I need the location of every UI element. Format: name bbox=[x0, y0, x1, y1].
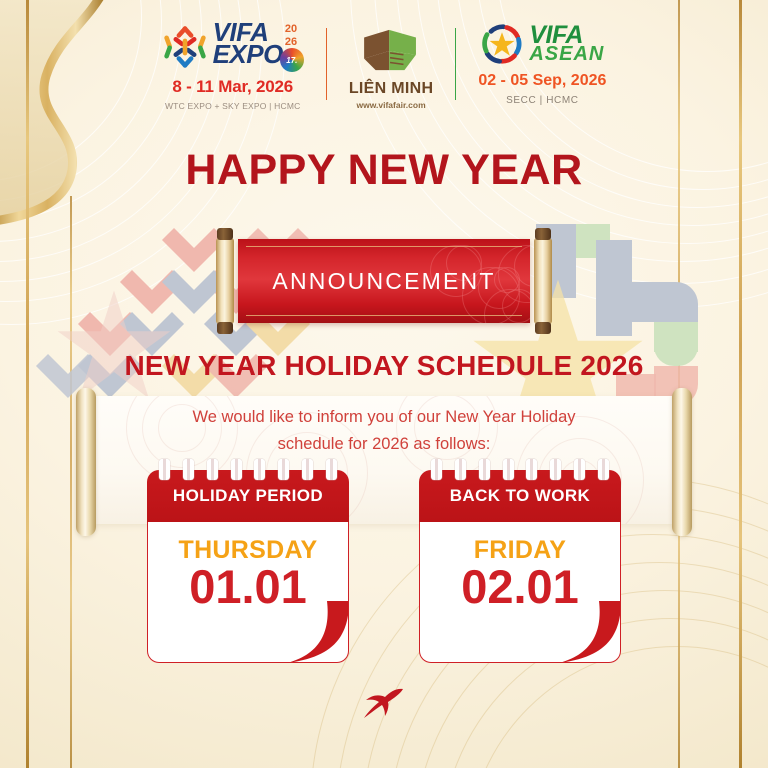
calendar-body: THURSDAY 01.01 bbox=[147, 522, 349, 663]
page-fold-corner-icon bbox=[559, 601, 621, 663]
vifa-expo-edition-badge: 17. bbox=[280, 48, 304, 72]
announcement-scroll: ANNOUNCEMENT bbox=[212, 228, 556, 334]
calendar-header-label: BACK TO WORK bbox=[450, 486, 590, 506]
vifa-expo-venue: WTC EXPO + SKY EXPO | HCMC bbox=[165, 101, 301, 111]
body-text-line-1: We would like to inform you of our New Y… bbox=[0, 404, 768, 431]
calendar-card-group: HOLIDAY PERIOD THURSDAY 01.01 BACK TO WO… bbox=[0, 470, 768, 663]
pale-star-decor-left bbox=[54, 288, 174, 408]
lien-minh-url: www.vifafair.com bbox=[357, 100, 426, 110]
furniture-box-icon bbox=[360, 26, 422, 74]
vifa-expo-wordmark: VIFA EXPO 20 26 17. bbox=[213, 22, 304, 72]
logo-vifa-expo[interactable]: VIFA EXPO 20 26 17. 8 - 11 Mar, 2026 WTC… bbox=[162, 22, 304, 111]
page-title: HAPPY NEW YEAR bbox=[0, 146, 768, 195]
vifa-asean-mark: VIFA ASEAN bbox=[480, 22, 604, 66]
new-year-announcement-poster: VIFA EXPO 20 26 17. 8 - 11 Mar, 2026 WTC… bbox=[0, 0, 768, 768]
spiral-binding bbox=[431, 459, 609, 481]
vifa-expo-year-top: 20 bbox=[285, 24, 297, 35]
logo-separator-right bbox=[455, 28, 456, 100]
calendar-card-holiday-period[interactable]: HOLIDAY PERIOD THURSDAY 01.01 bbox=[147, 470, 349, 663]
spiral-binding bbox=[159, 459, 337, 481]
swallow-bird-icon bbox=[362, 686, 406, 720]
vifa-asean-dates: 02 - 05 Sep, 2026 bbox=[478, 72, 606, 90]
calendar-header-label: HOLIDAY PERIOD bbox=[173, 486, 323, 506]
star-circle-icon bbox=[480, 22, 524, 66]
announcement-band: ANNOUNCEMENT bbox=[238, 239, 530, 323]
calendar-body: FRIDAY 02.01 bbox=[419, 522, 621, 663]
scroll-roller-left bbox=[212, 228, 238, 334]
vifa-asean-wordmark: VIFA ASEAN bbox=[529, 24, 604, 64]
page-fold-corner-icon bbox=[287, 601, 349, 663]
calendar-card-back-to-work[interactable]: BACK TO WORK FRIDAY 02.01 bbox=[419, 470, 621, 663]
logo-row: VIFA EXPO 20 26 17. 8 - 11 Mar, 2026 WTC… bbox=[0, 22, 768, 130]
vifa-expo-year-bottom: 26 bbox=[285, 37, 297, 48]
section-headline: NEW YEAR HOLIDAY SCHEDULE 2026 bbox=[0, 350, 768, 382]
snowflake-star-icon bbox=[162, 24, 208, 70]
logo-separator-left bbox=[326, 28, 327, 100]
logo-lien-minh[interactable]: LIÊN MINH www.vifafair.com bbox=[349, 22, 433, 110]
vifa-asean-venue: SECC | HCMC bbox=[506, 95, 579, 106]
lien-minh-name: LIÊN MINH bbox=[349, 80, 433, 98]
vifa-expo-dates: 8 - 11 Mar, 2026 bbox=[172, 77, 293, 97]
vifa-expo-name-line2: EXPO bbox=[213, 44, 283, 66]
vifa-expo-edition-label: 17. bbox=[286, 56, 297, 65]
body-text-line-2: schedule for 2026 as follows: bbox=[0, 431, 768, 458]
vifa-expo-mark: VIFA EXPO 20 26 17. bbox=[162, 22, 304, 72]
vifa-asean-name-line2: ASEAN bbox=[529, 46, 604, 64]
logo-vifa-asean[interactable]: VIFA ASEAN 02 - 05 Sep, 2026 SECC | HCMC bbox=[478, 22, 606, 106]
body-text: We would like to inform you of our New Y… bbox=[0, 404, 768, 457]
announcement-label: ANNOUNCEMENT bbox=[238, 239, 530, 323]
scroll-roller-right bbox=[530, 228, 556, 334]
